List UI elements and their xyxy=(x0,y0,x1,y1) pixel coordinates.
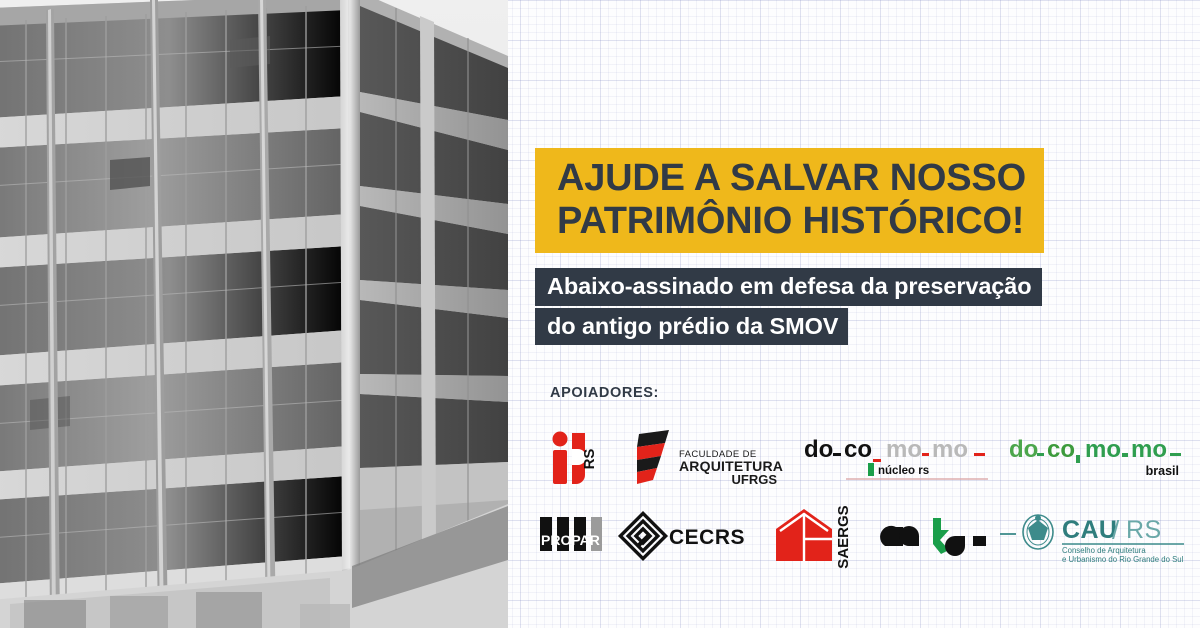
logo-docomomo-rs-part1: do xyxy=(804,436,833,463)
logo-cau-rs-sub1: Conselho de Arquitetura xyxy=(1062,546,1146,555)
logo-saergs-text: SAERGS xyxy=(835,505,852,568)
logo-astec[interactable]: astec xyxy=(877,502,997,570)
supporters-label: APOIADORES: xyxy=(550,385,659,401)
logo-docomomo-brasil[interactable]: do co mo mo brasil xyxy=(1002,423,1188,493)
logo-cau-rs-text: CAU xyxy=(1062,516,1117,544)
logo-cau-rs[interactable]: CAU / RS Conselho de Arquitetura e Urban… xyxy=(997,502,1188,570)
supporters-row-2: PROPAR CECRS xyxy=(528,502,1188,570)
logo-fa-ufrgs-line3: UFRGS xyxy=(732,472,778,487)
logo-docomomo-rs-part3: mo xyxy=(886,436,922,463)
logo-cau-rs-sub2: e Urbanismo do Rio Grande do Sul xyxy=(1062,555,1184,564)
logo-docomomo-rs-sub: núcleo rs xyxy=(878,465,929,477)
logo-propar[interactable]: PROPAR xyxy=(528,502,620,570)
logo-cau-rs-text2: RS xyxy=(1126,516,1162,544)
campaign-poster: AJUDE A SALVAR NOSSO PATRIMÔNIO HISTÓRIC… xyxy=(0,0,1200,628)
logo-docomomo-br-sub: brasil xyxy=(1146,464,1179,478)
headline-line-1: AJUDE A SALVAR NOSSO xyxy=(557,157,1026,200)
logo-iab-rs-text: RS xyxy=(581,449,598,470)
logo-docomomo-br-part4: mo xyxy=(1131,436,1167,463)
logo-docomomo-br-part3: mo xyxy=(1085,436,1121,463)
subheadline-line-2: do antigo prédio da SMOV xyxy=(535,308,848,346)
logo-propar-text: PROPAR xyxy=(541,532,600,548)
supporters-row-1: RS FACULDADE DE ARQUITETURA UFRGS xyxy=(528,423,1188,493)
building-photo xyxy=(0,0,508,628)
logo-saergs[interactable]: SAERGS xyxy=(765,502,878,570)
logo-docomomo-rs-part2: co xyxy=(844,436,872,463)
subheadline-line-1: Abaixo-assinado em defesa da preservação xyxy=(535,268,1042,306)
content-panel: AJUDE A SALVAR NOSSO PATRIMÔNIO HISTÓRIC… xyxy=(508,0,1200,628)
logo-fa-ufrgs[interactable]: FACULDADE DE ARQUITETURA UFRGS xyxy=(624,423,792,493)
subheadline-block: Abaixo-assinado em defesa da preservação… xyxy=(535,268,1042,347)
logo-cecrs-text: CECRS xyxy=(669,526,745,549)
logo-docomomo-nucleo-rs[interactable]: do co mo mo núcleo rs xyxy=(792,423,1002,493)
logo-docomomo-br-part2: co xyxy=(1047,436,1075,463)
headline-block: AJUDE A SALVAR NOSSO PATRIMÔNIO HISTÓRIC… xyxy=(535,148,1044,253)
logo-cau-rs-slash: / xyxy=(1112,515,1120,545)
logo-docomomo-rs-part4: mo xyxy=(932,436,968,463)
logo-cecrs[interactable]: CECRS xyxy=(620,502,765,570)
logo-iab-rs[interactable]: RS xyxy=(528,423,624,493)
headline-line-2: PATRIMÔNIO HISTÓRICO! xyxy=(557,200,1026,243)
logo-docomomo-br-part1: do xyxy=(1009,436,1038,463)
